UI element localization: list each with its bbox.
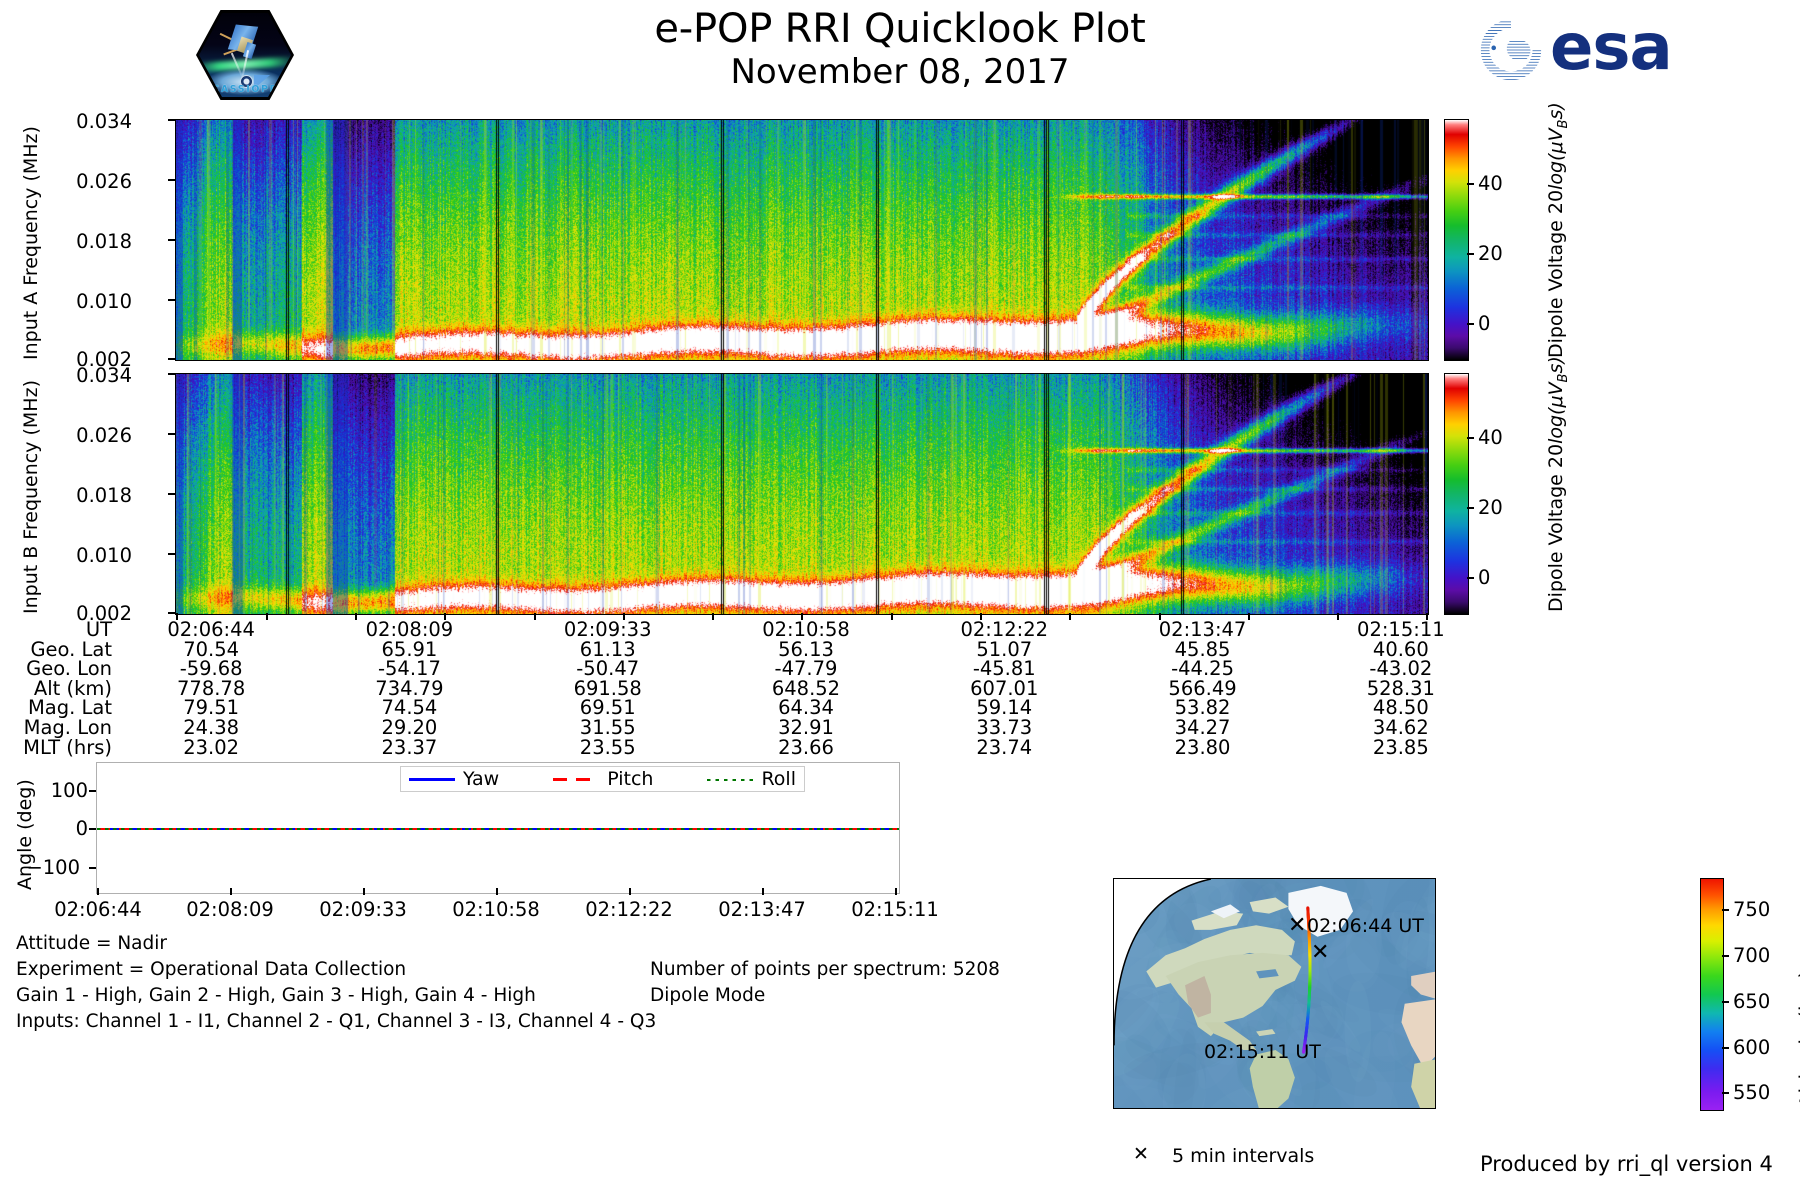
input-a-cbtick-0: 0 (1478, 312, 1490, 335)
orbit-track-map-image (1114, 879, 1436, 1109)
footer-npoints: Number of points per spectrum: 5208 (650, 959, 1000, 980)
table-row-label: UT (0, 620, 112, 640)
input-a-spectrogram-image (176, 120, 1428, 360)
table-cell: 23.37 (310, 738, 508, 758)
map-mid-marker-icon: ✕ (1311, 940, 1329, 965)
input-b-spectrogram-image (176, 374, 1428, 614)
table-cell: 34.27 (1103, 718, 1301, 738)
pitch-line-swatch (553, 772, 599, 786)
table-cell: 23.55 (509, 738, 707, 758)
orbit-track-map (1113, 878, 1436, 1109)
table-row: UT02:06:4402:08:0902:09:3302:10:5802:12:… (0, 620, 1500, 640)
table-cell: 24.38 (112, 718, 310, 738)
map-start-marker-icon: ✕ (1288, 913, 1306, 938)
input-a-ylabel: Input A Frequency (MHz) (20, 126, 42, 360)
input-b-cbtick-40: 40 (1478, 426, 1503, 449)
input-b-ylabel: Input B Frequency (MHz) (20, 380, 42, 614)
attitude-xtick-4: 02:12:22 (564, 898, 694, 921)
table-row-label: MLT (hrs) (0, 738, 112, 758)
produced-by-label: Produced by rri_ql version 4 (1480, 1152, 1773, 1176)
legend-label-pitch: Pitch (607, 768, 653, 790)
input-b-ytick-3: 0.010 (40, 544, 132, 567)
table-cell: 23.74 (905, 738, 1103, 758)
altitude-colorbar (1700, 878, 1724, 1111)
input-b-ytick-2: 0.018 (40, 484, 132, 507)
input-a-colorbar-label: Dipole Voltage 20log(μVBs) (1545, 102, 1571, 358)
attitude-ytick-n100: −100 (0, 856, 80, 879)
footer-dipole-mode: Dipole Mode (650, 985, 765, 1006)
table-cell: 23.85 (1302, 738, 1500, 758)
attitude-legend: Yaw Pitch Roll (400, 766, 805, 792)
legend-label-roll: Roll (761, 768, 796, 790)
attitude-xtick-1: 02:08:09 (165, 898, 295, 921)
table-cell: 02:08:09 (310, 620, 508, 640)
attitude-ytick-100: 100 (8, 779, 88, 802)
yaw-line-swatch (409, 772, 455, 786)
input-b-cbtick-0: 0 (1478, 566, 1490, 589)
attitude-xtick-3: 02:10:58 (431, 898, 561, 921)
input-b-ytick-0: 0.034 (40, 364, 132, 387)
table-cell: 02:09:33 (509, 620, 707, 640)
table-cell: 31.55 (509, 718, 707, 738)
input-a-ytick-2: 0.018 (40, 230, 132, 253)
legend-item-yaw: Yaw (409, 768, 499, 790)
table-row-label: Geo. Lon (0, 659, 112, 679)
ephemeris-table: UT02:06:4402:08:0902:09:3302:10:5802:12:… (0, 620, 1500, 757)
table-cell: 02:10:58 (707, 620, 905, 640)
table-cell: 23.02 (112, 738, 310, 758)
table-cell: -44.25 (1103, 659, 1301, 679)
footer-experiment: Experiment = Operational Data Collection (16, 959, 406, 980)
table-cell: 32.91 (707, 718, 905, 738)
input-a-ytick-3: 0.010 (40, 290, 132, 313)
table-cell: 23.66 (707, 738, 905, 758)
legend-item-pitch: Pitch (553, 768, 653, 790)
legend-item-roll: Roll (707, 768, 796, 790)
table-row-label: Mag. Lon (0, 718, 112, 738)
input-a-colorbar (1444, 119, 1469, 361)
map-interval-footnote: 5 min intervals (1172, 1145, 1314, 1167)
input-a-ytick-1: 0.026 (40, 170, 132, 193)
esa-wordmark: esa (1550, 10, 1672, 86)
altitude-colorbar-label: Altitude (km) (1796, 970, 1800, 1108)
altitude-cbtick-650: 650 (1733, 990, 1770, 1013)
altitude-cbtick-550: 550 (1733, 1081, 1770, 1104)
roll-line-swatch (707, 772, 753, 786)
attitude-xtick-6: 02:15:11 (830, 898, 960, 921)
table-cell: 34.62 (1302, 718, 1500, 738)
footer-gains: Gain 1 - High, Gain 2 - High, Gain 3 - H… (16, 985, 536, 1006)
table-cell: -54.17 (310, 659, 508, 679)
map-start-label: 02:06:44 UT (1307, 915, 1424, 937)
input-b-colorbar (1444, 373, 1469, 615)
input-b-cbtick-20: 20 (1478, 496, 1503, 519)
table-cell: 02:13:47 (1103, 620, 1301, 640)
attitude-roll-line (97, 828, 899, 830)
legend-label-yaw: Yaw (463, 768, 499, 790)
table-cell: -50.47 (509, 659, 707, 679)
altitude-cbtick-600: 600 (1733, 1036, 1770, 1059)
table-cell: 33.73 (905, 718, 1103, 738)
table-cell: 02:06:44 (112, 620, 310, 640)
table-cell: 29.20 (310, 718, 508, 738)
table-cell: -47.79 (707, 659, 905, 679)
table-cell: 02:15:11 (1302, 620, 1500, 640)
table-row: MLT (hrs)23.0223.3723.5523.6623.7423.802… (0, 738, 1500, 758)
attitude-xtick-0: 02:06:44 (33, 898, 163, 921)
attitude-ytick-0: 0 (8, 817, 88, 840)
table-cell: -45.81 (905, 659, 1103, 679)
table-cell: 23.80 (1103, 738, 1301, 758)
esa-swirl-icon (1474, 14, 1548, 86)
table-cell: -59.68 (112, 659, 310, 679)
attitude-xtick-5: 02:13:47 (697, 898, 827, 921)
table-row: Mag. Lon24.3829.2031.5532.9133.7334.2734… (0, 718, 1500, 738)
input-a-ytick-0: 0.034 (40, 110, 132, 133)
table-row: Geo. Lon-59.68-54.17-50.47-47.79-45.81-4… (0, 659, 1500, 679)
input-b-ytick-1: 0.026 (40, 424, 132, 447)
map-interval-marker-icon: ✕ (1133, 1143, 1149, 1165)
input-b-colorbar-label: Dipole Voltage 20log(μVBs) (1545, 356, 1571, 612)
input-a-cbtick-40: 40 (1478, 172, 1503, 195)
table-cell: -43.02 (1302, 659, 1500, 679)
altitude-cbtick-750: 750 (1733, 898, 1770, 921)
input-a-cbtick-20: 20 (1478, 242, 1503, 265)
footer-inputs: Inputs: Channel 1 - I1, Channel 2 - Q1, … (16, 1011, 656, 1032)
footer-attitude: Attitude = Nadir (16, 933, 167, 954)
map-end-label: 02:15:11 UT (1204, 1041, 1321, 1063)
table-cell: 02:12:22 (905, 620, 1103, 640)
esa-logo: esa (1470, 8, 1770, 92)
attitude-xtick-2: 02:09:33 (298, 898, 428, 921)
altitude-cbtick-700: 700 (1733, 944, 1770, 967)
